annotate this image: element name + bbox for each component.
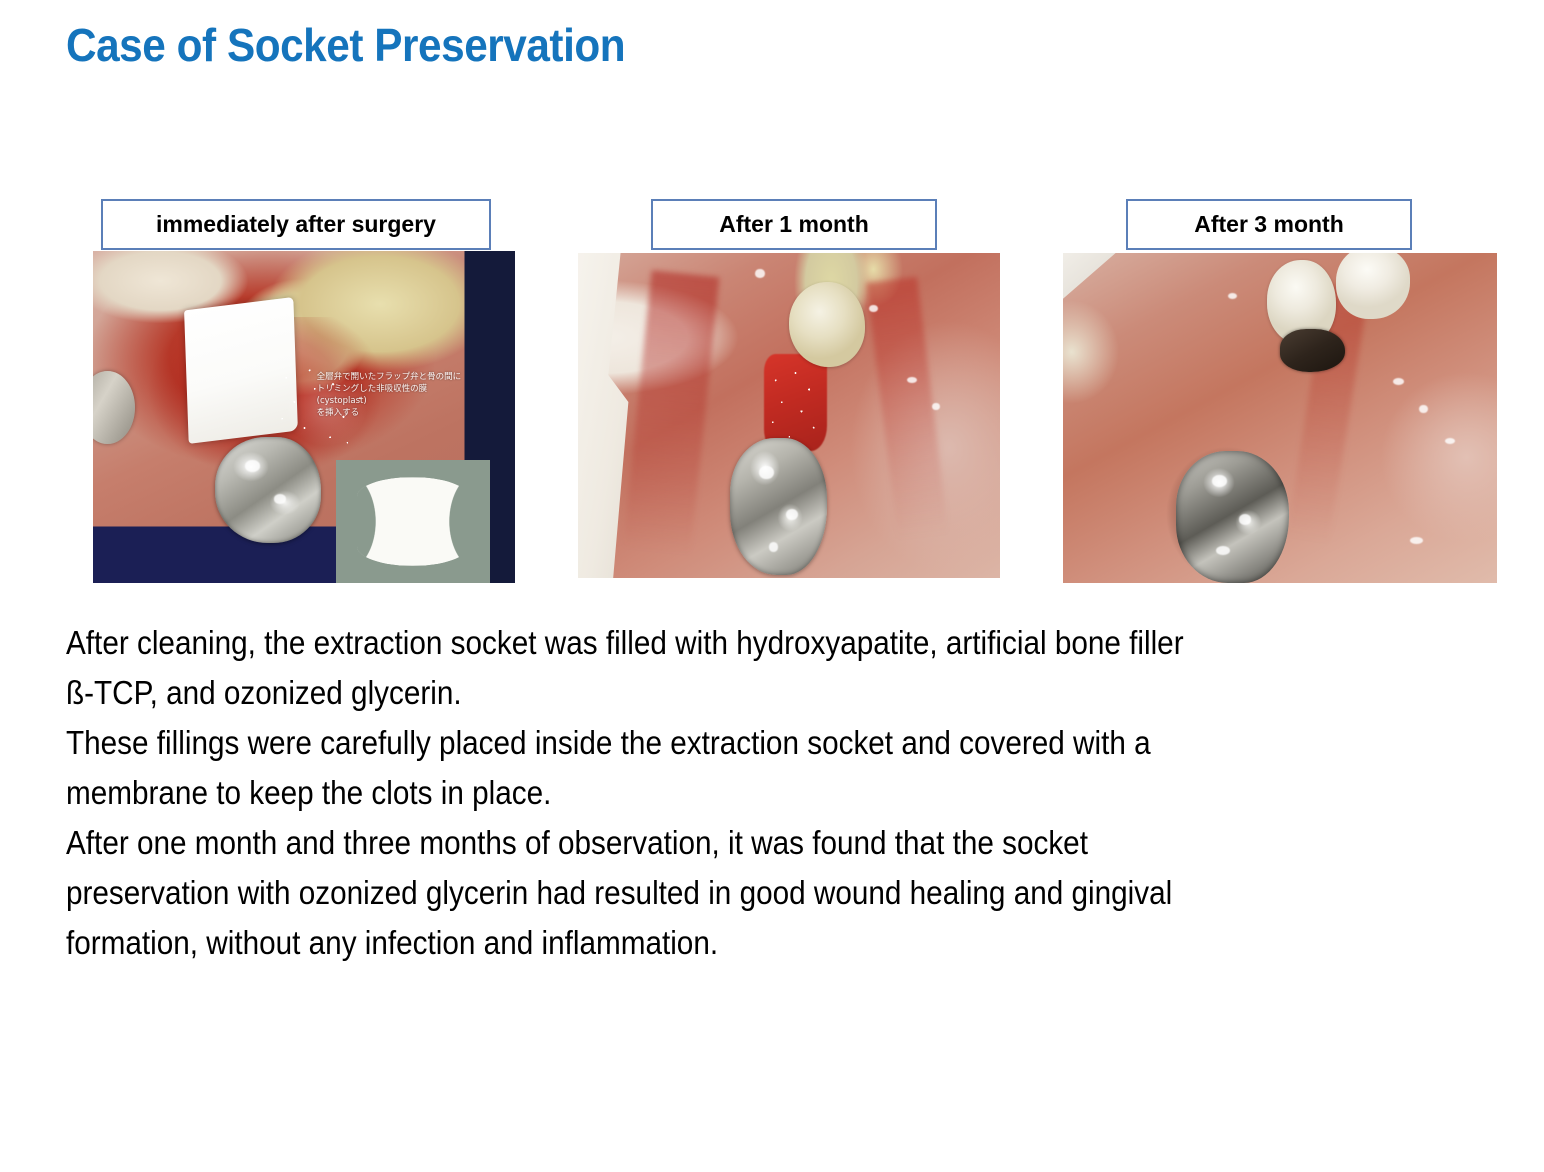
specular-highlight [769,542,779,552]
gingival-blood-streak [623,270,719,555]
saliva-highlight [907,377,917,384]
saliva-highlight [1228,293,1237,299]
specular-highlight [759,466,774,480]
panel-label-after-3-month: After 3 month [1126,199,1412,250]
specular-highlight [786,509,798,520]
gauze-retractor [1063,253,1119,303]
photo-caption-japanese: 全層弁で開いたフラップ弁と骨の間に トリミングした非吸収性の膜 (cystopl… [317,371,511,420]
page-title: Case of Socket Preservation [66,18,625,72]
membrane-product-inset [336,460,490,583]
saliva-highlight [1393,378,1404,385]
specular-highlight [1239,514,1251,525]
amalgam-filling [1280,329,1345,372]
metal-crown [730,438,827,575]
body-line: membrane to keep the clots in place. [66,768,1353,818]
panel-label-after-1-month: After 1 month [651,199,937,250]
adjacent-tooth [1336,253,1410,319]
body-line: After cleaning, the extraction socket wa… [66,618,1353,668]
cystoplast-membrane-strip [357,477,468,565]
saliva-highlight [755,269,764,277]
metal-crown [1176,451,1289,583]
body-line: These fillings were carefully placed ins… [66,718,1353,768]
panel-label-immediately-after-surgery: immediately after surgery [101,199,491,250]
metal-crown [215,437,321,543]
saliva-highlight [1419,405,1428,414]
body-line: After one month and three months of obse… [66,818,1353,868]
body-line: preservation with ozonized glycerin had … [66,868,1353,918]
intraoral-photo-immediately-after-surgery: 全層弁で開いたフラップ弁と骨の間に トリミングした非吸収性の膜 (cystopl… [93,251,515,583]
saliva-highlight [1445,438,1455,444]
saliva-highlight [932,403,940,411]
body-line: formation, without any infection and inf… [66,918,1353,968]
specular-highlight [1212,475,1227,487]
body-line: ß-TCP, and ozonized glycerin. [66,668,1353,718]
body-text-block: After cleaning, the extraction socket wa… [66,618,1353,968]
specular-highlight [274,494,286,504]
specular-highlight [245,460,260,472]
specular-highlight [1216,546,1230,555]
saliva-highlight [1410,537,1423,544]
adjacent-tooth [789,282,865,367]
intraoral-photo-after-1-month [578,253,1000,578]
saliva-highlight [869,305,877,312]
intraoral-photo-after-3-month [1063,253,1497,583]
